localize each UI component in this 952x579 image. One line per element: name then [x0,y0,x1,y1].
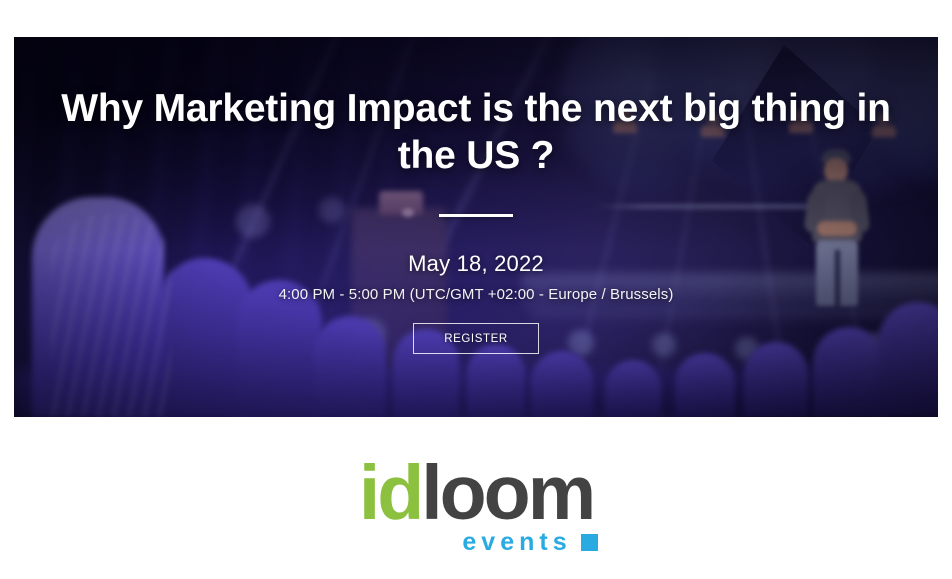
logo-wordmark: id loom [359,460,593,526]
hero-banner: Why Marketing Impact is the next big thi… [14,37,938,417]
logo-square-icon [581,534,598,551]
event-time-and-timezone: 4:00 PM - 5:00 PM (UTC/GMT +02:00 - Euro… [279,286,674,303]
idloom-events-logo: id loom events [0,460,952,557]
logo-loom-text: loom [421,460,593,526]
event-title: Why Marketing Impact is the next big thi… [36,85,916,179]
event-date: May 18, 2022 [408,251,544,277]
logo-tagline-row: events [462,528,597,557]
register-button[interactable]: REGISTER [413,323,539,354]
title-divider [439,214,513,217]
logo-events-text: events [462,528,571,557]
logo-id-text: id [359,460,421,526]
hero-content: Why Marketing Impact is the next big thi… [14,37,938,417]
event-invitation-page: Why Marketing Impact is the next big thi… [0,0,952,579]
